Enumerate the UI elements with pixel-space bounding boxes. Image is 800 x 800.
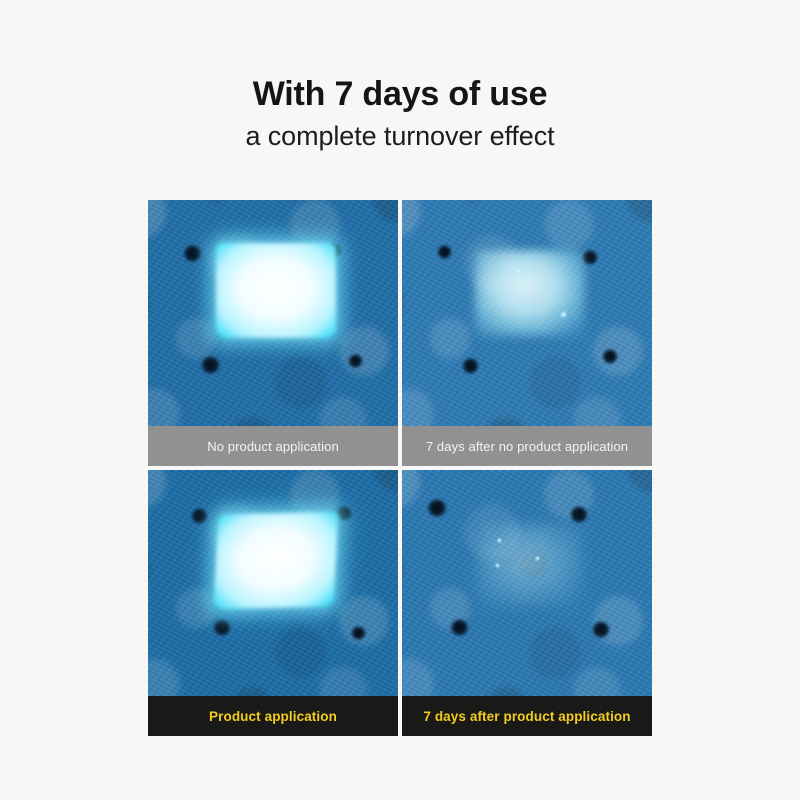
sparkle-icon: [535, 556, 540, 561]
dark-spot-icon: [570, 506, 588, 523]
dark-spot-icon: [191, 508, 208, 524]
panel-caption-product-after: 7 days after product application: [402, 696, 652, 736]
glow-patch: [477, 524, 582, 605]
dark-spot-icon: [437, 245, 452, 259]
dark-spot-icon: [201, 356, 220, 374]
microscope-image-no-product-after: [402, 200, 652, 426]
panel-caption-product-before: Product application: [148, 696, 398, 736]
panel-no-product-before: No product application: [148, 200, 398, 466]
dark-spot-icon: [602, 349, 618, 364]
dark-spot-icon: [348, 354, 363, 368]
dark-spot-icon: [351, 626, 366, 640]
microscope-image-product-after: [402, 470, 652, 696]
dark-spot-icon: [450, 619, 469, 636]
sparkle-icon: [495, 563, 500, 568]
dark-spot-icon: [213, 619, 231, 636]
heading-block: With 7 days of use a complete turnover e…: [0, 74, 800, 153]
microscope-image-product-before: [148, 470, 398, 696]
glow-patch: [216, 243, 336, 338]
dark-spot-icon: [592, 621, 610, 638]
glow-patch: [475, 250, 585, 336]
dark-spot-icon: [462, 358, 479, 374]
panel-product-after: 7 days after product application: [402, 470, 652, 736]
sparkle-icon: [515, 268, 521, 274]
product-comparison-page: With 7 days of use a complete turnover e…: [0, 0, 800, 800]
panel-caption-no-product-after: 7 days after no product application: [402, 426, 652, 466]
glow-patch: [213, 511, 338, 609]
page-subtitle: a complete turnover effect: [0, 120, 800, 152]
panel-caption-no-product-before: No product application: [148, 426, 398, 466]
panel-product-before: Product application: [148, 470, 398, 736]
microscope-image-no-product-before: [148, 200, 398, 426]
comparison-grid: No product application 7 days after no p…: [148, 200, 652, 736]
sparkle-icon: [560, 311, 567, 318]
dark-spot-icon: [427, 499, 447, 517]
panel-no-product-after: 7 days after no product application: [402, 200, 652, 466]
dark-spot-icon: [183, 245, 202, 262]
page-title: With 7 days of use: [0, 74, 800, 114]
sparkle-icon: [497, 538, 502, 543]
